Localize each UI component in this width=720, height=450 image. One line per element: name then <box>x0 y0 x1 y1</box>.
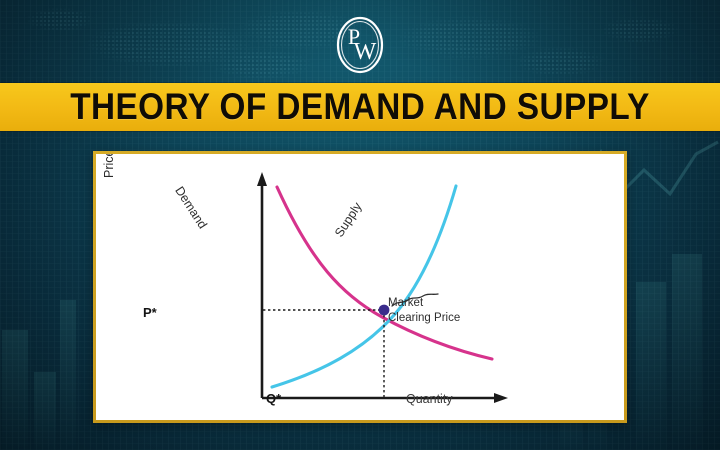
pw-circle-logo-icon: P W <box>334 14 386 76</box>
annotation-line-2: Clearing Price <box>388 311 460 326</box>
q-star-label: Q* <box>266 391 281 406</box>
axes <box>257 172 508 403</box>
slide-root: P W THEORY OF DEMAND AND SUPPLY <box>0 0 720 450</box>
page-title: THEORY OF DEMAND AND SUPPLY <box>70 86 650 128</box>
svg-text:W: W <box>354 39 377 65</box>
chart-panel-frame: Price Quantity Demand Supply P* Q* Marke… <box>93 151 627 423</box>
demand-curve <box>277 187 492 359</box>
y-axis-label: Price <box>102 154 116 178</box>
market-clearing-price-annotation: Market Clearing Price <box>388 296 460 326</box>
p-star-label: P* <box>143 305 157 320</box>
brand-logo-container: P W <box>0 14 720 76</box>
annotation-line-1: Market <box>388 296 460 311</box>
supply-curve <box>272 186 456 387</box>
title-band: THEORY OF DEMAND AND SUPPLY <box>0 83 720 131</box>
x-axis-label: Quantity <box>406 392 453 406</box>
chart-panel: Price Quantity Demand Supply P* Q* Marke… <box>96 154 624 420</box>
